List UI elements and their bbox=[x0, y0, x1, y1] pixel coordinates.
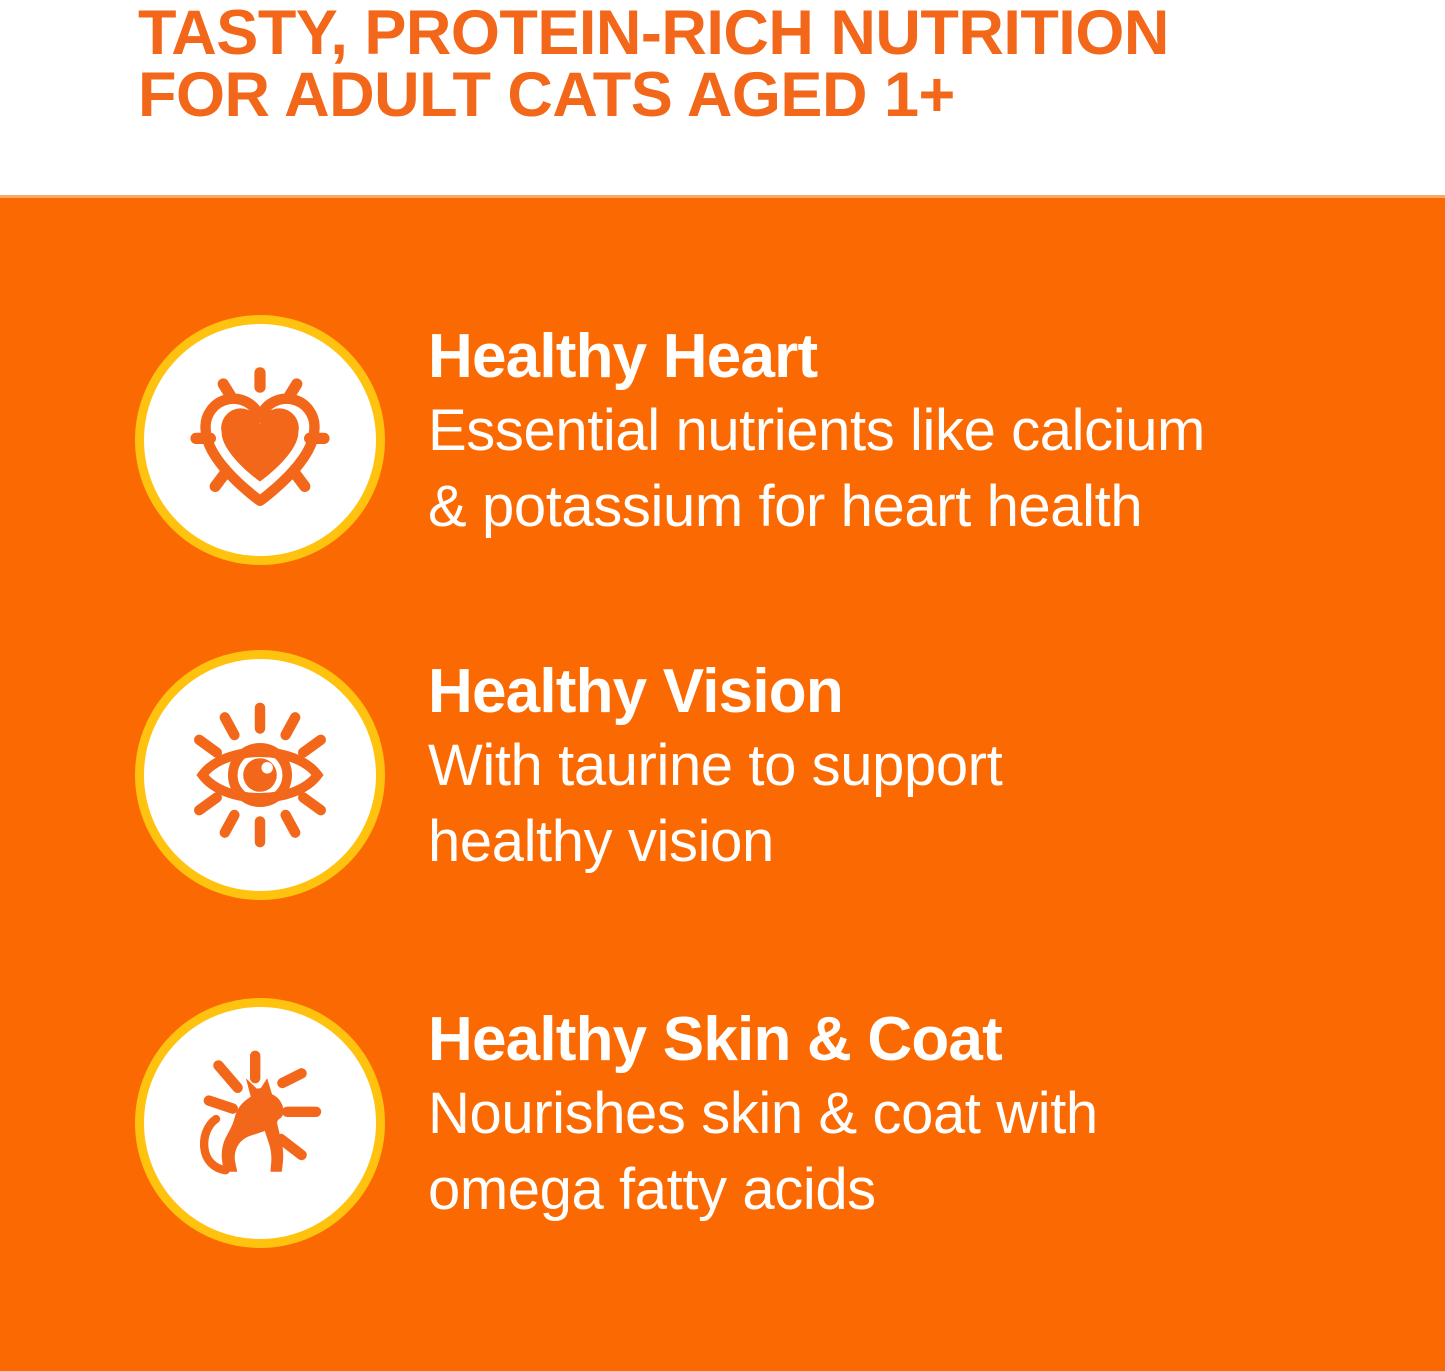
benefit-description: Nourishes skin & coat with omega fatty a… bbox=[428, 1076, 1328, 1228]
benefit-title: Healthy Skin & Coat bbox=[428, 1004, 1328, 1076]
benefit-icon-badge bbox=[135, 315, 385, 565]
radiant-heart-icon bbox=[180, 360, 340, 520]
benefit-text-block: Healthy Skin & Coat Nourishes skin & coa… bbox=[428, 1004, 1328, 1228]
benefit-title: Healthy Heart bbox=[428, 321, 1328, 393]
benefit-text-block: Healthy Heart Essential nutrients like c… bbox=[428, 321, 1328, 545]
radiant-eye-icon bbox=[180, 695, 340, 855]
benefits-panel: Healthy Heart Essential nutrients like c… bbox=[0, 198, 1445, 1371]
page-headline: TASTY, PROTEIN-RICH NUTRITION FOR ADULT … bbox=[138, 2, 1378, 126]
benefit-icon-badge bbox=[135, 998, 385, 1248]
benefit-description: Essential nutrients like calcium & potas… bbox=[428, 393, 1328, 545]
benefit-title: Healthy Vision bbox=[428, 656, 1328, 728]
header-band: TASTY, PROTEIN-RICH NUTRITION FOR ADULT … bbox=[0, 0, 1445, 198]
radiant-cat-icon bbox=[180, 1043, 340, 1203]
benefit-text-block: Healthy Vision With taurine to support h… bbox=[428, 656, 1328, 880]
benefit-description: With taurine to support healthy vision bbox=[428, 728, 1328, 880]
benefit-icon-badge bbox=[135, 650, 385, 900]
benefits-infographic: TASTY, PROTEIN-RICH NUTRITION FOR ADULT … bbox=[0, 0, 1445, 1371]
